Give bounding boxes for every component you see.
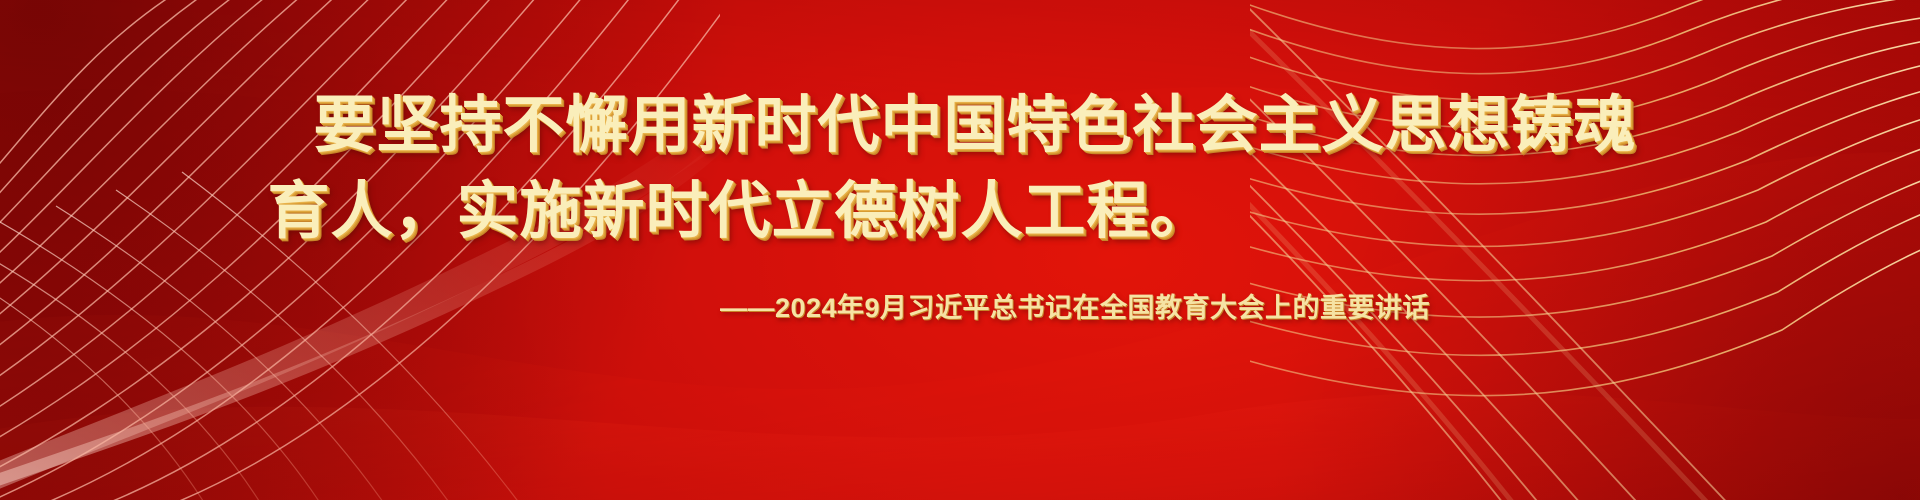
headline-line-1: 要坚持不懈用新时代中国特色社会主义思想铸魂 — [0, 86, 1920, 166]
headline-line-2: 育人，实施新时代立德树人工程。 — [0, 172, 1920, 252]
banner-content: 要坚持不懈用新时代中国特色社会主义思想铸魂 育人，实施新时代立德树人工程。 ——… — [0, 86, 1920, 325]
attribution-text: ——2024年9月习近平总书记在全国教育大会上的重要讲话 — [720, 286, 1430, 325]
attribution: ——2024年9月习近平总书记在全国教育大会上的重要讲话 — [0, 286, 1920, 325]
propaganda-banner: 要坚持不懈用新时代中国特色社会主义思想铸魂 育人，实施新时代立德树人工程。 ——… — [0, 0, 1920, 500]
